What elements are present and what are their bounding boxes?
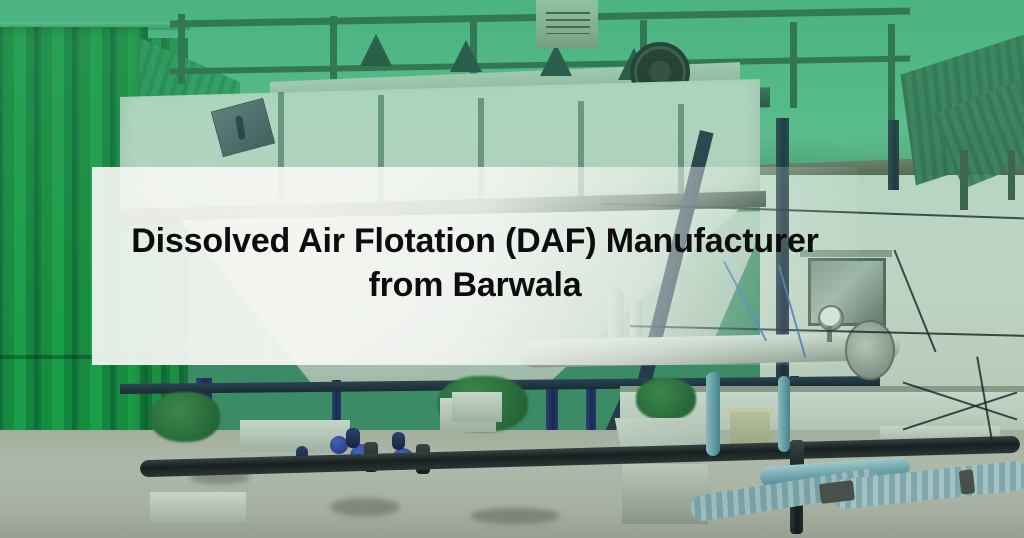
- hero-banner: Dissolved Air Flotation (DAF) Manufactur…: [0, 0, 1024, 538]
- page-title: Dissolved Air Flotation (DAF) Manufactur…: [110, 220, 840, 307]
- heading-overlay-panel: Dissolved Air Flotation (DAF) Manufactur…: [92, 167, 858, 365]
